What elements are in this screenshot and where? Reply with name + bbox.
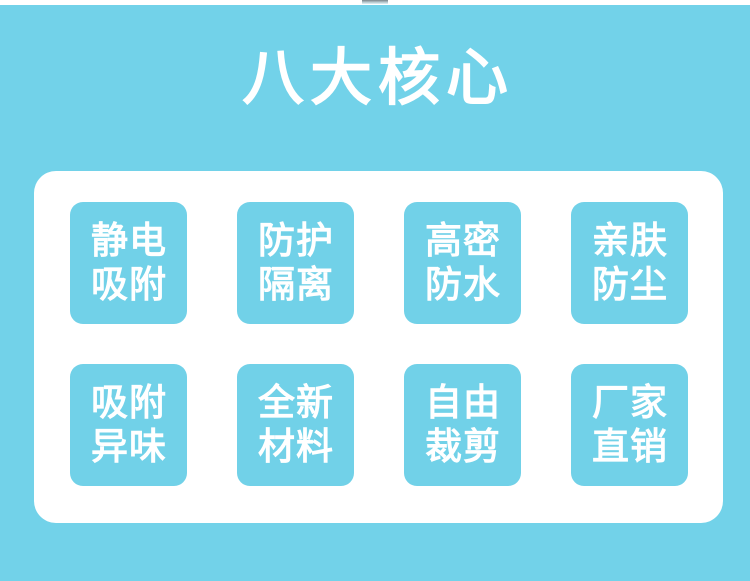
feature-label-line1: 高密 (424, 219, 501, 263)
feature-label-line2: 防尘 (591, 263, 668, 307)
feature-label-line1: 防护 (257, 219, 334, 263)
features-card: 静电 吸附 防护 隔离 高密 防水 亲肤 防尘 吸附 异味 全新 材料 (34, 171, 723, 523)
feature-tile-static-adsorption[interactable]: 静电 吸附 (70, 202, 187, 324)
top-edge-artifact (362, 0, 388, 4)
feature-label-line1: 全新 (257, 381, 334, 425)
promo-banner: 八大核心 静电 吸附 防护 隔离 高密 防水 亲肤 防尘 吸附 异味 (0, 0, 750, 581)
feature-label-line2: 材料 (257, 425, 334, 469)
feature-label-line2: 异味 (90, 425, 167, 469)
feature-tile-factory-direct-sales[interactable]: 厂家 直销 (571, 364, 688, 486)
feature-label-line1: 亲肤 (591, 219, 668, 263)
feature-label-line2: 防水 (424, 263, 501, 307)
feature-tile-skin-friendly-dustproof[interactable]: 亲肤 防尘 (571, 202, 688, 324)
feature-label-line2: 直销 (591, 425, 668, 469)
feature-label-line1: 自由 (424, 381, 501, 425)
feature-label-line1: 静电 (90, 219, 167, 263)
feature-label-line2: 隔离 (257, 263, 334, 307)
page-title: 八大核心 (0, 40, 750, 116)
feature-tile-odor-absorbing[interactable]: 吸附 异味 (70, 364, 187, 486)
feature-label-line2: 裁剪 (424, 425, 501, 469)
feature-label-line2: 吸附 (90, 263, 167, 307)
feature-tile-protective-barrier[interactable]: 防护 隔离 (237, 202, 354, 324)
feature-label-line1: 厂家 (591, 381, 668, 425)
features-grid: 静电 吸附 防护 隔离 高密 防水 亲肤 防尘 吸附 异味 全新 材料 (70, 202, 687, 486)
feature-label-line1: 吸附 (90, 381, 167, 425)
feature-tile-free-cutting[interactable]: 自由 裁剪 (404, 364, 521, 486)
feature-tile-brand-new-material[interactable]: 全新 材料 (237, 364, 354, 486)
feature-tile-high-density-waterproof[interactable]: 高密 防水 (404, 202, 521, 324)
